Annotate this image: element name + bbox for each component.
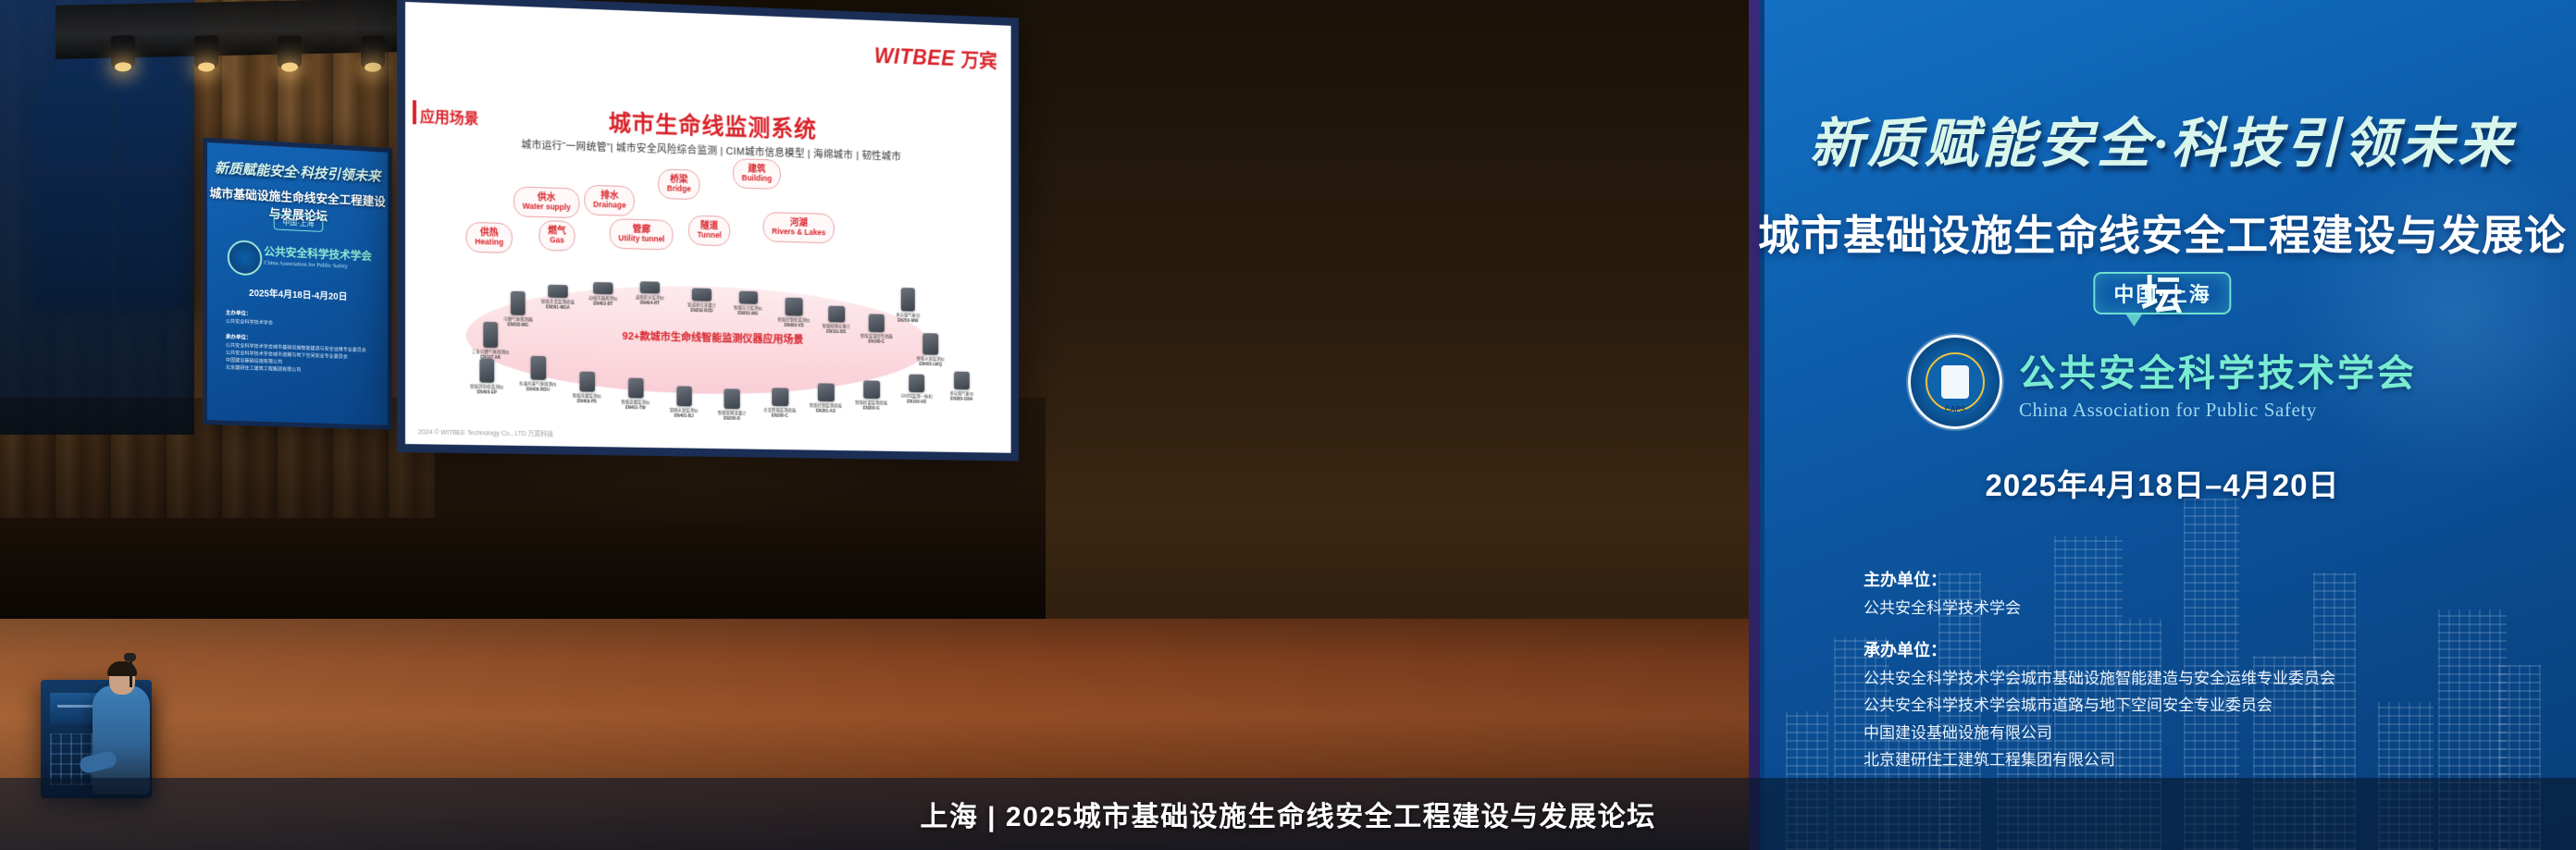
device-code: EN400-LWQ	[907, 362, 954, 367]
device-code: EN301-AS	[802, 408, 849, 413]
device-item: 智能流量监测仪EN401-TW	[612, 377, 660, 410]
device-icon	[724, 388, 739, 409]
scene-pill-en: Rivers & Lakes	[772, 228, 825, 238]
backdrop-date: 2025年4月18日–4月20日	[1749, 461, 2576, 505]
device-icon	[479, 359, 494, 383]
blue-side-curtain	[0, 0, 194, 435]
conference-photo-scene: 新质赋能安全·科技引领未来 城市基础设施生命线安全工程建设与发展论坛 中国·上海…	[0, 0, 2576, 850]
caps-emblem-icon	[228, 240, 262, 277]
spotlight-icon	[278, 35, 302, 68]
device-item: 道路积水监测仪EN404-RT	[625, 281, 674, 306]
spotlight-icon	[361, 35, 385, 68]
device-item: 多功能气象站EN700-MW	[885, 288, 932, 324]
scene-pill-utility-tunnel: 管廊Utility tunnel	[610, 218, 674, 250]
device-icon	[923, 333, 938, 355]
coorganizer-item: 公共安全科学技术学会城市基础设施智能建造与安全运维专业委员会	[1864, 665, 2335, 692]
device-icon	[901, 288, 915, 312]
device-item: 智能控制柜监测仪EN600-VD	[770, 297, 817, 327]
microphone-stand	[130, 659, 132, 687]
coorganizer-label: 承办单位：	[1864, 636, 2335, 665]
scene-pill-water-supply: 供水Water supply	[514, 186, 580, 217]
device-item: 智能管网流量计EN200-D	[708, 388, 756, 421]
scene-pill-drainage: 排水Drainage	[584, 185, 635, 216]
device-item: 动噪讯器探测仪EN402-BT	[578, 282, 627, 307]
device-icon	[692, 288, 712, 301]
scene-pill-en: Bridge	[667, 185, 691, 194]
coorganizer-item: 中国建设基础设施有限公司	[1864, 720, 2335, 746]
scene-pill-en: Building	[742, 174, 773, 183]
device-icon	[869, 314, 885, 332]
scene-pill-bridge: 桥梁Bridge	[658, 168, 700, 200]
device-icon	[786, 298, 803, 316]
device-icon	[579, 372, 595, 392]
device-icon	[640, 281, 660, 293]
coorganizer-item: 公共安全科学技术学会城市道路与地下空间安全专业委员会	[1864, 692, 2335, 719]
device-code: EN400-RDU	[514, 387, 563, 392]
scene-pill-en: Drainage	[593, 201, 625, 210]
scene-pill-en: Heating	[475, 238, 503, 247]
device-code: EN400-EP	[463, 389, 512, 395]
device-code: EN200-D	[708, 415, 756, 421]
backdrop-organizer-text: 公共安全科学技术学会 China Association for Public …	[2019, 343, 2417, 422]
device-item: 智能雨量监测仪EN409-PS	[563, 371, 612, 403]
witbee-logo-cn: 万宾	[960, 45, 997, 74]
host-name: 公共安全科学技术学会	[1864, 595, 2335, 622]
scene-pill-gas: 燃气Gas	[539, 220, 575, 251]
slide-canvas: WITBEE 万宾 应用场景 城市生命线监测系统 城市运行“一网统管”| 城市安…	[405, 2, 1011, 453]
microphone-icon	[124, 653, 136, 661]
stage-led-date: 2025年4月18日-4月20日	[207, 283, 388, 304]
caps-emblem-text: CAPS	[1911, 405, 2000, 413]
witbee-logo-en: WITBEE	[874, 43, 955, 70]
backdrop-calligraphy-slogan: 新质赋能安全·科技引领未来	[1749, 100, 2576, 178]
device-item: 智能井盖监测终端EN501-MGA	[533, 284, 582, 310]
device-icon	[676, 386, 691, 406]
device-code: EN100-HS	[893, 399, 940, 404]
device-item: 智能桥梁监测终端EN300-G	[848, 380, 895, 411]
witbee-logo: WITBEE 万宾	[874, 42, 997, 73]
scene-pill-building: 建筑Building	[733, 158, 781, 190]
device-icon	[593, 282, 613, 294]
device-item: 有毒有害气体探测仪EN400-RDU	[514, 355, 563, 391]
device-item: GNSS监测一体机EN100-HS	[893, 374, 940, 404]
speaker-hair	[107, 661, 137, 676]
device-item: 智能控制监测终端EN301-AS	[802, 383, 849, 413]
scene-pill-tunnel: 隧道Tunnel	[688, 216, 730, 246]
device-item: 智能水质监测仪EN400-LWQ	[907, 333, 954, 367]
slide-footer: 2024 © WITBEE Technology Co., LTD 万宾科技	[418, 427, 553, 438]
backdrop-org-cn: 公共安全科学技术学会	[2019, 343, 2417, 397]
scene-pill-en: Utility tunnel	[618, 234, 664, 244]
device-icon	[548, 285, 568, 298]
device-item: 多功能气象仪EN300-GNA	[938, 371, 985, 401]
stage-led-location-chip: 中国·上海	[274, 215, 323, 232]
device-icon	[828, 306, 845, 323]
device-icon	[530, 356, 546, 380]
device-icon	[738, 291, 757, 304]
device-icon	[863, 380, 880, 399]
backdrop-org-en: China Association for Public Safety	[2019, 399, 2417, 422]
backdrop-units-block: 主办单位： 公共安全科学技术学会 承办单位： 公共安全科学技术学会城市基础设施智…	[1864, 566, 2335, 773]
device-icon	[817, 383, 834, 401]
backdrop-location-chip: 中国·上海	[2093, 272, 2231, 314]
scene-pill-en: Water supply	[523, 203, 571, 213]
device-item: 工业可燃气体探测仪EN107-XK	[466, 321, 515, 360]
scene-pill-en: Tunnel	[698, 231, 722, 240]
device-code: EN401-TW	[612, 405, 660, 411]
stage-led-coorg-block: 承办单位： 公共安全科学技术学会城市基础设施智能建造与安全运维专业委员会 公共安…	[226, 334, 366, 376]
device-code: EN300-G	[848, 405, 895, 411]
scene-pill-en: Gas	[548, 236, 566, 245]
device-item: 管网水质监测仪EN401-BJ	[660, 386, 708, 418]
main-led-screen: WITBEE 万宾 应用场景 城市生命线监测系统 城市运行“一网统管”| 城市安…	[405, 2, 1011, 453]
scene-pill-rivers-lakes: 河湖Rivers & Lakes	[763, 212, 835, 243]
device-code: EN200-C	[756, 413, 804, 418]
device-item: 管道液位流量计EN202-RZD	[677, 288, 725, 314]
coorganizer-item: 北京建研住工建筑工程集团有限公司	[1864, 746, 2335, 773]
device-icon	[511, 291, 526, 315]
stage-led-calligraphy: 新质赋能安全·科技引领未来	[207, 157, 388, 186]
spotlight-icon	[111, 35, 135, 68]
device-code: EN300-GNA	[938, 396, 985, 401]
caps-emblem-icon: CAPS	[1908, 335, 2002, 429]
device-item: 井盖智能监测终端EN200-C	[756, 388, 804, 418]
scene-pill-heating: 供热Heating	[466, 222, 514, 253]
stage-side-led-panel: 新质赋能安全·科技引领未来 城市基础设施生命线安全工程建设与发展论坛 中国·上海…	[207, 142, 388, 425]
stage-led-host-label: 主办单位： 公共安全科学技术学会	[226, 310, 273, 327]
device-item: 智能消防栓监测仪EN400-EP	[463, 358, 512, 395]
device-code: EN409-PS	[563, 399, 612, 404]
device-icon	[954, 372, 970, 390]
device-code: EN100-C	[853, 339, 900, 344]
backdrop-organizer-row: CAPS 公共安全科学技术学会 China Association for Pu…	[1749, 335, 2576, 429]
host-label: 主办单位：	[1864, 566, 2335, 595]
caption-text: 上海 | 2025城市基础设施生命线安全工程建设与发展论坛	[920, 794, 1655, 834]
device-code: EN401-BJ	[660, 413, 708, 418]
bottom-caption-bar: 上海 | 2025城市基础设施生命线安全工程建设与发展论坛	[0, 778, 2576, 850]
device-icon	[628, 378, 644, 399]
device-item: 智能压力监测仪EN501-MG	[724, 290, 772, 315]
conference-backdrop: 新质赋能安全·科技引领未来 城市基础设施生命线安全工程建设与发展论坛 中国·上海…	[1749, 0, 2576, 850]
spotlight-icon	[194, 35, 218, 68]
device-icon	[909, 374, 924, 392]
device-icon	[483, 322, 498, 348]
device-icon	[772, 388, 788, 406]
